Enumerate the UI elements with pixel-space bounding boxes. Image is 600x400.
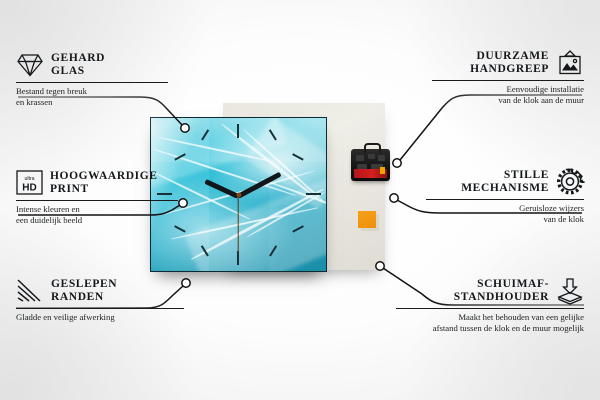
product-feature-infographic: GEHARD GLAS Bestand tegen breuk en krass… <box>0 0 600 400</box>
mechanism-detail <box>378 155 385 161</box>
feature-caption: en krassen <box>16 97 176 108</box>
feature-title: HANDGREEP <box>470 63 549 76</box>
feature-title: STILLE <box>461 169 549 182</box>
feature-caption: Maakt het behouden van een gelijke <box>388 312 584 323</box>
feature-caption: Eenvoudige installatie <box>424 84 584 95</box>
feature-title: GESLEPEN <box>51 278 117 291</box>
feature-stille-mechanisme: STILLE MECHANISME Geruisloze wijzers van… <box>418 168 584 225</box>
divider <box>16 308 184 309</box>
battery <box>354 169 387 178</box>
feature-title: PRINT <box>50 183 158 196</box>
feature-schuimafstandhouder: SCHUIMAF- STANDHOUDER Maakt het behouden… <box>388 278 584 334</box>
battery-terminal <box>380 167 385 174</box>
feature-title: HOOGWAARDIGE <box>50 170 158 183</box>
divider <box>16 82 168 83</box>
diamond-icon <box>16 52 44 78</box>
clock-second-hand <box>237 196 238 254</box>
feature-hoogwaardige-print: ultra HD HOOGWAARDIGE PRINT Intense kleu… <box>16 170 186 226</box>
press-pad-icon <box>556 278 584 304</box>
feature-caption: Geruisloze wijzers <box>418 203 584 214</box>
feature-title: RANDEN <box>51 291 117 304</box>
feature-geslepen-randen: GESLEPEN RANDEN Gladde en veilige afwerk… <box>16 278 191 323</box>
divider <box>432 80 584 81</box>
feature-gehard-glas: GEHARD GLAS Bestand tegen breuk en krass… <box>16 52 176 108</box>
feature-caption: afstand tussen de klok en de muur mogeli… <box>388 323 584 334</box>
feature-title: DUURZAME <box>470 50 549 63</box>
feature-caption: Bestand tegen breuk <box>16 86 176 97</box>
gear-icon <box>556 168 584 195</box>
svg-text:ultra: ultra <box>24 176 34 182</box>
divider <box>426 199 584 200</box>
divider <box>16 200 178 201</box>
feature-duurzame-handgreep: DUURZAME HANDGREEP Eenvoudige installati… <box>424 50 584 106</box>
beveled-edge-icon <box>16 278 44 303</box>
clock-mechanism <box>351 149 390 181</box>
feature-title: GLAS <box>51 65 105 78</box>
feature-title: GEHARD <box>51 52 105 65</box>
clock-tick <box>237 124 239 138</box>
ultra-hd-icon: ultra HD <box>16 170 43 195</box>
clock-center-pin <box>236 192 241 197</box>
feature-title: STANDHOUDER <box>454 291 549 304</box>
feature-caption: Intense kleuren en <box>16 204 186 215</box>
clock-tick <box>306 193 321 195</box>
feature-caption: Gladde en veilige afwerking <box>16 312 191 323</box>
foam-spacer-pad <box>358 211 376 228</box>
svg-text:HD: HD <box>22 183 36 194</box>
feature-caption: van de klok <box>418 214 584 225</box>
feature-title: SCHUIMAF- <box>454 278 549 291</box>
feature-caption: een duidelijk beeld <box>16 215 186 226</box>
divider <box>396 308 584 309</box>
mechanism-detail <box>356 155 364 161</box>
feature-caption: van de klok aan de muur <box>424 95 584 106</box>
feature-title: MECHANISME <box>461 182 549 195</box>
hanger-hook-icon <box>364 143 381 153</box>
picture-frame-icon <box>556 50 584 76</box>
mechanism-detail <box>368 154 375 159</box>
